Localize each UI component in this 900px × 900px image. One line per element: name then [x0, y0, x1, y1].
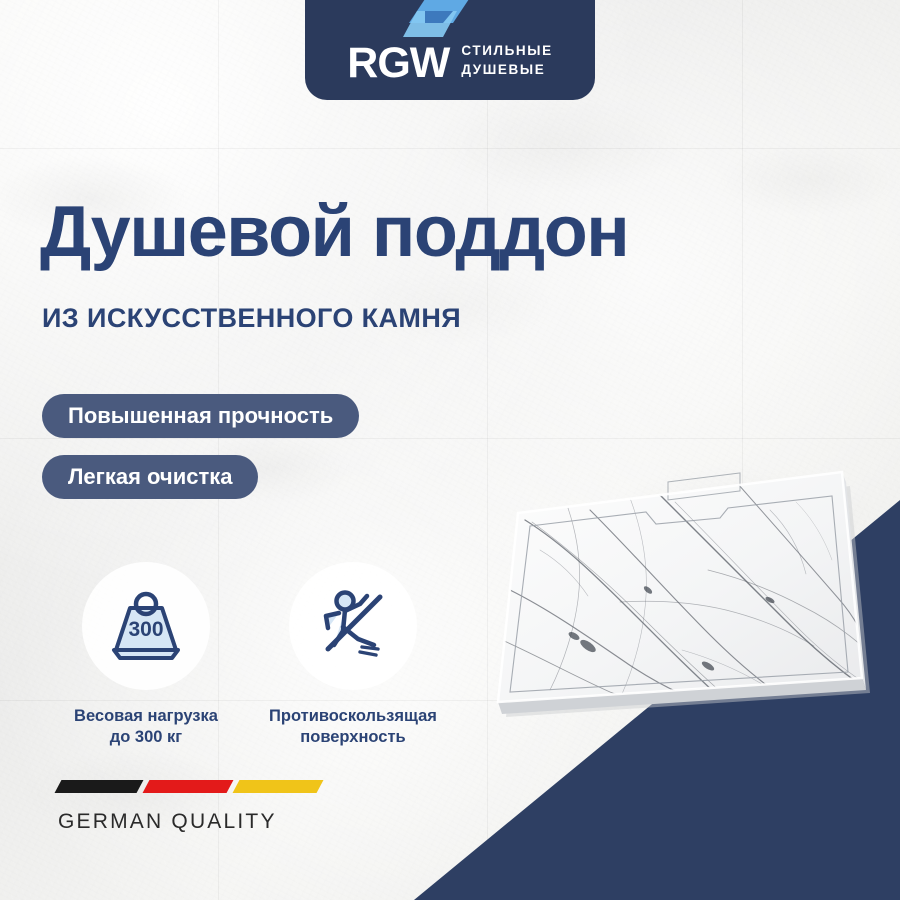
logo-wordmark: RGW: [347, 43, 449, 84]
feature-caption: Противоскользящая поверхность: [253, 706, 453, 749]
flag-stripe-red: [143, 780, 234, 793]
rgw-parallelogram-mark: [403, 0, 475, 41]
flag-stripe-gold: [233, 780, 324, 793]
feature-pill-durability: Повышенная прочность: [42, 394, 359, 438]
logo-tagline: СТИЛЬНЫЕ ДУШЕВЫЕ: [461, 41, 552, 84]
feature-anti-slip: Противоскользящая поверхность: [253, 562, 453, 749]
german-quality-badge: GERMAN QUALITY: [58, 780, 358, 834]
german-flag-stripes: [58, 780, 358, 794]
page-title: Душевой поддон: [40, 196, 628, 268]
logo-tagline-line1: СТИЛЬНЫЕ: [461, 41, 552, 61]
weight-300-icon: 300: [106, 588, 186, 664]
rgw-logo-badge: RGW СТИЛЬНЫЕ ДУШЕВЫЕ: [305, 0, 595, 100]
feature-icon-disc: 300: [82, 562, 210, 690]
german-quality-label: GERMAN QUALITY: [58, 810, 358, 834]
page-subtitle: ИЗ ИСКУССТВЕННОГО КАМНЯ: [42, 305, 461, 332]
feature-pill-cleaning: Легкая очистка: [42, 455, 258, 499]
logo-tagline-line2: ДУШЕВЫЕ: [461, 60, 552, 80]
anti-slip-person-icon: [312, 587, 394, 665]
feature-caption: Весовая нагрузка до 300 кг: [46, 706, 246, 749]
product-image: [470, 450, 890, 750]
feature-icon-disc: [289, 562, 417, 690]
feature-weight-load: 300 Весовая нагрузка до 300 кг: [46, 562, 246, 749]
promo-banner: RGW СТИЛЬНЫЕ ДУШЕВЫЕ Душевой поддон ИЗ И…: [0, 0, 900, 900]
flag-stripe-black: [55, 780, 144, 793]
weight-value-label: 300: [128, 618, 163, 641]
